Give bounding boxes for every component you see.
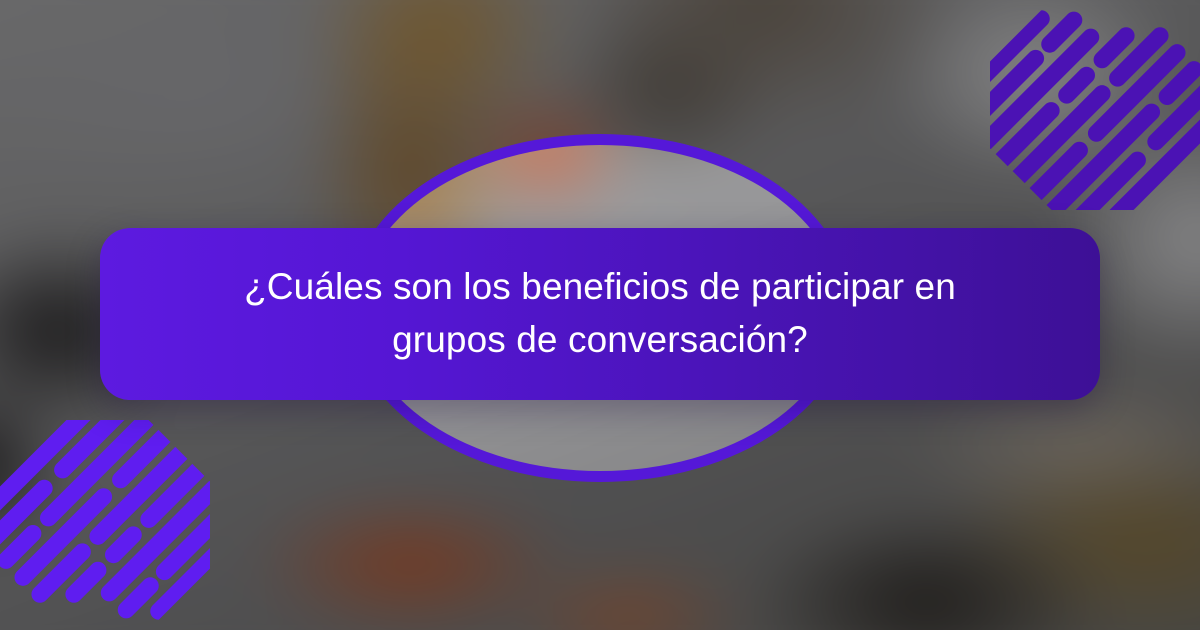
question-title: ¿Cuáles son los beneficios de participar… (230, 261, 970, 366)
question-card: ¿Cuáles son los beneficios de participar… (100, 228, 1100, 400)
social-card-canvas: ¿Cuáles son los beneficios de participar… (0, 0, 1200, 630)
